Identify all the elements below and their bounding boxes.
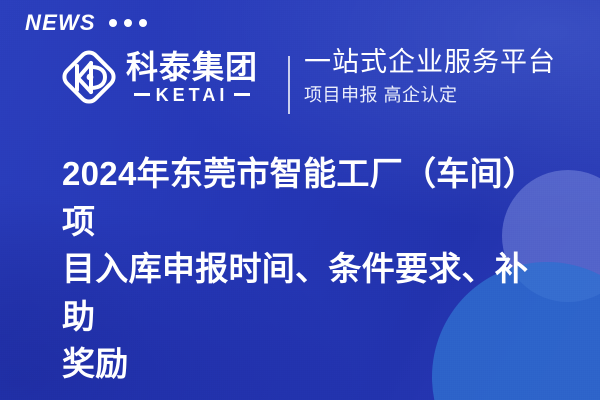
slogan-block: 一站式企业服务平台 项目申报 高企认定	[304, 47, 556, 107]
rule-right	[234, 93, 250, 96]
vertical-divider	[288, 56, 290, 114]
headline-line-3: 奖励	[62, 340, 560, 388]
slogan-sub: 项目申报 高企认定	[304, 85, 556, 107]
dot-icon	[124, 19, 132, 27]
slogan-main: 一站式企业服务平台	[304, 47, 556, 78]
headline-line-1: 2024年东莞市智能工厂（车间）项	[62, 150, 560, 245]
news-tag: NEWS	[25, 12, 147, 34]
brand-name-en-row: KETAI	[134, 86, 251, 104]
news-banner: NEWS 科泰集团 KETAI	[0, 0, 600, 400]
ketai-diamond-logo-icon	[60, 46, 118, 108]
brand-logo-lockup: 科泰集团 KETAI	[60, 46, 258, 108]
dot-icon	[139, 19, 147, 27]
brand-wordmark: 科泰集团 KETAI	[126, 50, 258, 104]
dot-icon	[109, 19, 117, 27]
headline: 2024年东莞市智能工厂（车间）项 目入库申报时间、条件要求、补助 奖励	[62, 150, 560, 388]
headline-line-2: 目入库申报时间、条件要求、补助	[62, 245, 560, 340]
rule-left	[134, 93, 150, 96]
brand-name-en: KETAI	[156, 86, 229, 104]
news-label: NEWS	[25, 12, 96, 34]
brand-name-cn: 科泰集团	[126, 50, 258, 85]
news-dots-icon	[109, 19, 147, 27]
